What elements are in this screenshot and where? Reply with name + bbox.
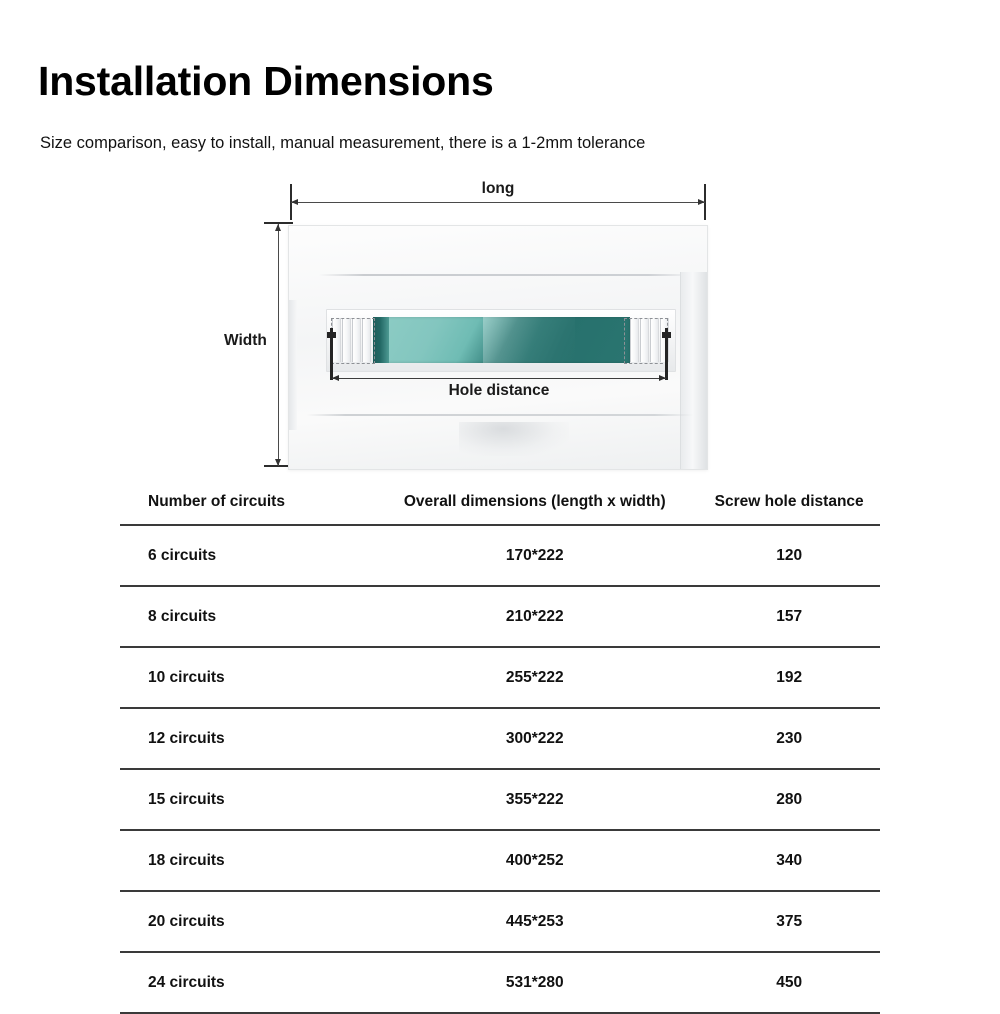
hole-distance-marker-right xyxy=(662,332,671,338)
width-dimension-label: Width xyxy=(224,332,267,350)
cell-dimensions: 531*280 xyxy=(371,952,698,1013)
width-dimension-arrow xyxy=(278,224,279,466)
table-row: 10 circuits 255*222 192 xyxy=(120,647,880,708)
window-dark-edge xyxy=(373,317,389,363)
specifications-table: Number of circuits Overall dimensions (l… xyxy=(120,484,880,1014)
table-row: 15 circuits 355*222 280 xyxy=(120,769,880,830)
long-dimension-arrow xyxy=(291,202,705,203)
table-body: 6 circuits 170*222 120 8 circuits 210*22… xyxy=(120,525,880,1013)
cell-dimensions: 445*253 xyxy=(371,891,698,952)
cell-circuits: 12 circuits xyxy=(120,708,371,769)
screw-hole-guide-left xyxy=(331,318,375,364)
cell-circuits: 24 circuits xyxy=(120,952,371,1013)
table-row: 8 circuits 210*222 157 xyxy=(120,586,880,647)
cell-dimensions: 300*222 xyxy=(371,708,698,769)
long-dimension-label: long xyxy=(291,180,705,198)
product-side-latch xyxy=(680,272,707,469)
cell-circuits: 15 circuits xyxy=(120,769,371,830)
cell-circuits: 6 circuits xyxy=(120,525,371,586)
teal-display-window xyxy=(373,317,630,363)
cell-screw-hole: 230 xyxy=(698,708,880,769)
table-row: 6 circuits 170*222 120 xyxy=(120,525,880,586)
product-lower-seam xyxy=(307,414,693,416)
cell-screw-hole: 120 xyxy=(698,525,880,586)
table-row: 20 circuits 445*253 375 xyxy=(120,891,880,952)
cell-circuits: 20 circuits xyxy=(120,891,371,952)
cell-dimensions: 170*222 xyxy=(371,525,698,586)
cell-dimensions: 400*252 xyxy=(371,830,698,891)
table-row: 12 circuits 300*222 230 xyxy=(120,708,880,769)
hole-distance-label: Hole distance xyxy=(332,382,666,400)
table-header-row: Number of circuits Overall dimensions (l… xyxy=(120,484,880,525)
cell-screw-hole: 375 xyxy=(698,891,880,952)
product-highlight xyxy=(459,422,569,456)
cell-screw-hole: 340 xyxy=(698,830,880,891)
cell-screw-hole: 450 xyxy=(698,952,880,1013)
cell-circuits: 8 circuits xyxy=(120,586,371,647)
cell-screw-hole: 280 xyxy=(698,769,880,830)
column-header-circuits: Number of circuits xyxy=(120,484,371,525)
table-header: Number of circuits Overall dimensions (l… xyxy=(120,484,880,525)
table-row: 24 circuits 531*280 450 xyxy=(120,952,880,1013)
cell-dimensions: 255*222 xyxy=(371,647,698,708)
cell-dimensions: 210*222 xyxy=(371,586,698,647)
cell-screw-hole: 192 xyxy=(698,647,880,708)
hole-distance-marker-left xyxy=(327,332,336,338)
column-header-screw-hole: Screw hole distance xyxy=(698,484,880,525)
window-gloss-highlight xyxy=(483,317,575,363)
cell-screw-hole: 157 xyxy=(698,586,880,647)
cell-circuits: 18 circuits xyxy=(120,830,371,891)
table-row: 18 circuits 400*252 340 xyxy=(120,830,880,891)
hole-distance-arrow xyxy=(332,378,666,379)
product-dimension-diagram: long Width xyxy=(0,0,1000,480)
cell-dimensions: 355*222 xyxy=(371,769,698,830)
product-top-seam xyxy=(319,274,693,276)
product-left-notch xyxy=(289,300,297,430)
screw-hole-guide-right xyxy=(624,318,668,364)
cell-circuits: 10 circuits xyxy=(120,647,371,708)
column-header-dimensions: Overall dimensions (length x width) xyxy=(371,484,698,525)
